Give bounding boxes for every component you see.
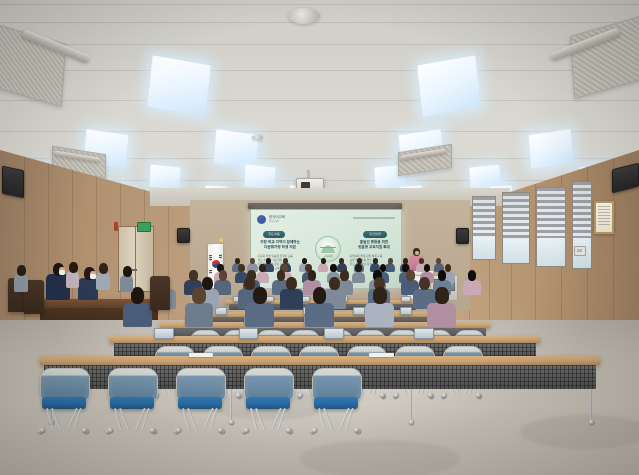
attendee-head (219, 270, 228, 280)
attendee-head (283, 258, 288, 264)
attendee-head (313, 287, 327, 304)
desk-caster (408, 420, 414, 426)
attendee-torso (96, 272, 110, 290)
wooden-chair[interactable] (150, 276, 170, 310)
attendee-torso (14, 274, 28, 292)
attendee-head (355, 264, 362, 272)
attendee-torso (463, 280, 481, 295)
attendee-torso (365, 303, 394, 327)
attendee-head (253, 287, 267, 304)
desk-caster (588, 420, 594, 426)
laptop (154, 328, 174, 339)
attendee-head (438, 270, 447, 280)
attendee-head (266, 258, 271, 264)
attendee (427, 287, 456, 324)
desk-leg (230, 389, 232, 421)
attendee-head (468, 270, 477, 280)
desk-caster (228, 420, 234, 426)
desk-leg (410, 389, 412, 421)
chair-caster (39, 428, 45, 434)
attendee-head (69, 262, 78, 273)
attendee-head (192, 287, 206, 304)
attendee-head (403, 258, 408, 264)
chair-caster (107, 428, 113, 434)
attendee-head (302, 258, 307, 264)
attendee-head (388, 258, 393, 264)
attendee-head (373, 287, 387, 304)
attendee-head (235, 258, 240, 264)
attendee (185, 287, 214, 324)
attendee-torso (305, 303, 334, 327)
attendee-torso (352, 272, 366, 283)
chair-caster (235, 393, 241, 399)
seating-area (0, 0, 639, 475)
attendee (280, 277, 303, 307)
attendee-torso (120, 275, 133, 292)
attendee-torso (280, 289, 303, 308)
attendee-head (435, 287, 449, 304)
attendee-torso (185, 303, 214, 327)
attendee-torso (427, 303, 456, 327)
chair-caster (298, 393, 304, 399)
chair-caster (427, 393, 433, 399)
chair-caster (442, 393, 448, 399)
attendee-head (373, 258, 378, 264)
attendee (352, 264, 366, 282)
attendee (463, 270, 481, 293)
attendee-head (419, 258, 424, 264)
attendee-torso (66, 271, 79, 288)
chair[interactable] (244, 368, 292, 431)
attendee-head (321, 258, 326, 264)
chair-caster (311, 428, 317, 434)
attendee (305, 287, 334, 324)
attendee-head (436, 258, 441, 264)
laptop (324, 328, 344, 339)
chair-caster (243, 428, 249, 434)
chair[interactable] (176, 368, 224, 431)
attendee (66, 262, 79, 290)
desk (40, 356, 600, 365)
attendee (96, 263, 110, 292)
laptop (401, 296, 411, 302)
attendee-head (250, 258, 255, 264)
attendee (365, 287, 394, 324)
attendee-torso (245, 303, 274, 327)
attendee-head (123, 266, 132, 277)
attendee (14, 265, 28, 294)
attendee-head (99, 263, 108, 274)
handout-paper (189, 353, 213, 357)
attendee-head (17, 265, 26, 276)
chair-caster (394, 393, 400, 399)
handout-paper (369, 353, 393, 357)
attendee-head (357, 258, 362, 264)
laptop (239, 328, 259, 339)
attendee-head (286, 277, 297, 290)
seminar-room-photo: 한국어교육 연구기관 주요내용 추진방향 가정·학교·지역이 함께하는 다문화가… (0, 0, 639, 475)
chair-caster (379, 393, 385, 399)
laptop (400, 307, 412, 314)
head-table-official (78, 267, 98, 301)
attendee-torso (123, 303, 152, 327)
chair[interactable] (108, 368, 156, 431)
chair[interactable] (40, 368, 88, 431)
laptop (353, 307, 365, 314)
chair-caster (175, 428, 181, 434)
chair-caster (475, 393, 481, 399)
attendee (245, 287, 274, 324)
laptop (414, 328, 434, 339)
desk-leg (590, 389, 592, 421)
attendee-head (339, 258, 344, 264)
official-torso (78, 278, 98, 300)
face-mask (59, 270, 65, 275)
chair[interactable] (312, 368, 360, 431)
attendee (120, 266, 133, 294)
face-mask (90, 274, 96, 279)
attendee-head (308, 270, 317, 280)
